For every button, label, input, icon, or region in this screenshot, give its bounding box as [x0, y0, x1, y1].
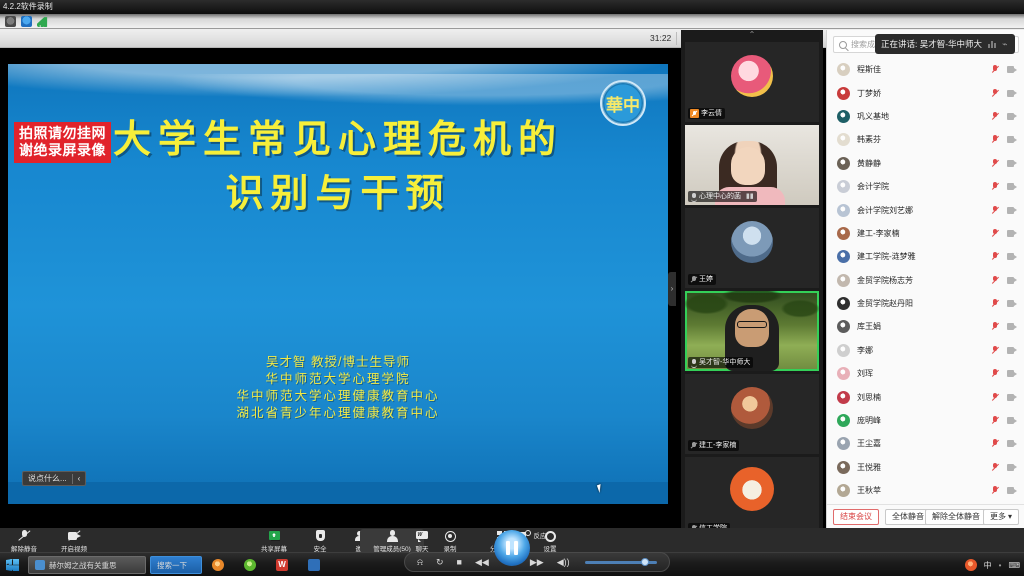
participant-status-icons	[991, 229, 1017, 238]
avatar	[837, 250, 850, 263]
media-player-controls: ⍾ ↻ ■ ◀◀ ❚❚ ▶▶ ◀))	[404, 552, 670, 572]
participant-row[interactable]: 刘珲	[827, 362, 1024, 385]
participant-name: 刘珲	[857, 368, 991, 379]
video-tile-1[interactable]: 心理中心的菡 ▮▮	[685, 125, 819, 205]
search-icon	[839, 41, 847, 49]
camera-off-icon[interactable]	[1007, 440, 1017, 447]
avatar	[837, 157, 850, 170]
participant-row[interactable]: 王尘嘉	[827, 432, 1024, 455]
avatar	[837, 367, 850, 380]
participant-name: 庞明峰	[857, 415, 991, 426]
avatar	[837, 180, 850, 193]
participant-name: 程斯佳	[857, 64, 991, 75]
mic-slash-icon[interactable]: ⍾	[417, 558, 423, 567]
unmute-all-button[interactable]: 解除全体静音	[925, 509, 987, 525]
signal-icon[interactable]	[37, 16, 48, 27]
participant-row[interactable]: 建工-李家楠	[827, 222, 1024, 245]
camera-off-icon[interactable]	[1007, 136, 1017, 143]
info-icon[interactable]	[5, 16, 16, 27]
mic-muted-icon[interactable]	[991, 182, 998, 191]
refresh-icon[interactable]: ↻	[436, 558, 444, 567]
volume-slider-knob[interactable]	[641, 558, 649, 566]
chevron-down-icon: ▾	[1008, 510, 1012, 524]
avatar	[731, 387, 773, 429]
participant-row[interactable]: 韩素芬	[827, 128, 1024, 151]
mic-muted-icon[interactable]	[991, 439, 998, 448]
camera-off-icon[interactable]	[1007, 277, 1017, 284]
participant-status-icons	[991, 252, 1017, 261]
camera-off-icon[interactable]	[1007, 347, 1017, 354]
shield-icon	[314, 530, 327, 542]
avatar	[837, 391, 850, 404]
participants-list[interactable]: 程斯佳丁梦娇巩义基地韩素芬黄静静会计学院会计学院刘艺娜建工-李家楠建工学院-涟梦…	[827, 58, 1024, 504]
app-blue-icon[interactable]	[308, 559, 320, 571]
gear-icon	[544, 530, 557, 542]
participant-name: 库王娟	[857, 321, 991, 332]
participant-name: 建工学院-涟梦雅	[857, 251, 991, 262]
avatar	[837, 320, 850, 333]
participant-row[interactable]: 建工学院-涟梦雅	[827, 245, 1024, 268]
participant-row[interactable]: 库王娟	[827, 315, 1024, 338]
speaking-now-text: 正在讲话: 吴才智-华中师大	[881, 38, 982, 50]
recorder-toolbar[interactable]	[0, 14, 1024, 29]
mic-on-icon	[690, 193, 697, 201]
video-tile-name: 王婷	[688, 274, 716, 285]
video-tile-name: 李云倩	[688, 108, 725, 119]
mic-muted-icon[interactable]	[991, 463, 998, 472]
participant-name: 王尘嘉	[857, 438, 991, 449]
participant-row[interactable]: 王秋苹	[827, 479, 1024, 502]
video-tile-4[interactable]: 建工-李家楠	[685, 374, 819, 454]
mic-muted-icon	[690, 109, 699, 118]
shield-icon[interactable]	[21, 16, 32, 27]
taskbar-window-1[interactable]: 搜索一下	[150, 556, 202, 574]
pause-overlay-button[interactable]	[494, 530, 530, 566]
participant-row[interactable]: 巩义基地	[827, 105, 1024, 128]
mic-muted-icon[interactable]	[991, 276, 998, 285]
app-icon	[35, 560, 45, 570]
avatar	[837, 274, 850, 287]
participant-name: 会计学院刘艺娜	[857, 205, 991, 216]
participant-row[interactable]: 丁梦娇	[827, 81, 1024, 104]
participant-status-icons	[991, 112, 1017, 121]
camera-off-icon[interactable]	[1007, 464, 1017, 471]
slide-subtitle: 吴才智 教授/博士生导师 华中师范大学心理学院 华中师范大学心理健康教育中心 湖…	[8, 354, 668, 422]
participant-status-icons	[991, 439, 1017, 448]
shared-screen-stage: 拍照请勿挂网 谢绝录屏录像 華中 大学生常见心理危机的 识别与干预 吴才智 教授…	[0, 48, 676, 528]
filmstrip-scroll-up-button[interactable]: ⌃	[681, 30, 823, 40]
participant-name: 王秋苹	[857, 485, 991, 496]
slide-bottom-band	[8, 482, 668, 504]
forward-icon[interactable]: ▶▶	[530, 558, 544, 567]
screen-root: 4.2.2软件录制 31:22 0人看直播 演讲者视图 ▾ 管理成员(50)	[0, 0, 1024, 576]
mic-muted-icon[interactable]	[991, 369, 998, 378]
mic-muted-icon[interactable]	[991, 159, 998, 168]
participant-status-icons	[991, 369, 1017, 378]
volume-slider[interactable]	[585, 561, 657, 564]
system-tray: 中 • ⌨	[965, 553, 1020, 576]
mic-muted-icon[interactable]	[991, 206, 998, 215]
volume-icon[interactable]: ◀))	[557, 558, 570, 567]
participant-name: 黄静静	[857, 158, 991, 169]
share-screen-icon	[268, 530, 281, 542]
participant-status-icons	[991, 346, 1017, 355]
slide-title: 大学生常见心理危机的 识别与干预	[8, 112, 668, 220]
participant-name: 韩素芬	[857, 134, 991, 145]
camera-off-icon[interactable]	[1007, 207, 1017, 214]
sogou-input-icon[interactable]	[965, 559, 977, 571]
camera-off-icon[interactable]	[1007, 160, 1017, 167]
mic-muted-icon[interactable]	[991, 346, 998, 355]
signal-icon: ▮▮	[746, 191, 754, 202]
participant-status-icons	[991, 276, 1017, 285]
security-button[interactable]: 安全	[298, 529, 342, 553]
record-button[interactable]: 录制	[428, 529, 472, 553]
avatar	[837, 204, 850, 217]
annotation-placeholder: 说点什么...	[28, 472, 67, 485]
camera-off-icon[interactable]	[1007, 370, 1017, 377]
avatar	[837, 461, 850, 474]
participant-status-icons	[991, 206, 1017, 215]
participant-name: 金贸学院赵丹阳	[857, 298, 991, 309]
settings-button[interactable]: 设置	[528, 529, 572, 553]
participant-status-icons	[991, 299, 1017, 308]
mic-muted-icon	[690, 276, 697, 284]
camera-off-icon[interactable]	[1007, 183, 1017, 190]
camera-off-icon[interactable]	[1007, 394, 1017, 401]
avatar	[837, 484, 850, 497]
people-icon	[386, 530, 399, 542]
keyboard-icon[interactable]: ⌨	[1008, 561, 1020, 570]
end-meeting-button[interactable]: 结束会议	[833, 509, 879, 525]
meeting-timer: 31:22	[646, 29, 675, 48]
avatar	[837, 133, 850, 146]
rewind-icon[interactable]: ◀◀	[475, 558, 489, 567]
unmute-button[interactable]: 解除静音	[2, 529, 46, 553]
stop-icon[interactable]: ■	[457, 558, 462, 567]
avatar	[837, 227, 850, 240]
video-tile-name: 建工-李家楠	[688, 440, 739, 451]
video-tile-name: 吴才智-华中师大	[688, 357, 753, 368]
app-green-icon[interactable]	[244, 559, 256, 571]
record-icon	[444, 530, 457, 542]
participant-row[interactable]: 会计学院刘艺娜	[827, 198, 1024, 221]
ime-mode-label[interactable]: 中	[984, 560, 992, 571]
mic-muted-icon[interactable]	[991, 135, 998, 144]
mic-muted-icon[interactable]	[991, 299, 998, 308]
participant-row[interactable]: 黄静静	[827, 152, 1024, 175]
start-button[interactable]	[2, 555, 24, 575]
avatar	[837, 344, 850, 357]
recorder-title-bar: 4.2.2软件录制	[0, 0, 1024, 14]
recorder-title-text: 4.2.2软件录制	[3, 2, 53, 11]
participant-status-icons	[991, 486, 1017, 495]
camera-off-icon[interactable]	[1007, 253, 1017, 260]
participant-status-icons	[991, 393, 1017, 402]
participants-footer: 结束会议 全体静音 解除全体静音 更多 ▾	[827, 504, 1024, 528]
avatar	[837, 63, 850, 76]
camera-off-icon[interactable]	[1007, 323, 1017, 330]
participant-name: 王悦雅	[857, 462, 991, 473]
camera-off-icon[interactable]	[1007, 487, 1017, 494]
stage-collapse-handle[interactable]: ›	[668, 272, 676, 306]
video-tile-name: 心理中心的菡 ▮▮	[688, 191, 757, 202]
avatar	[837, 414, 850, 427]
participant-row[interactable]: 王悦雅	[827, 456, 1024, 479]
mic-muted-icon	[690, 442, 697, 450]
camera-off-icon[interactable]	[1007, 113, 1017, 120]
participant-status-icons	[991, 463, 1017, 472]
avatar	[731, 55, 773, 97]
participant-status-icons	[991, 159, 1017, 168]
mic-muted-icon	[18, 530, 31, 542]
participant-status-icons	[991, 416, 1017, 425]
camera-off-icon[interactable]	[1007, 90, 1017, 97]
mic-muted-icon[interactable]	[991, 229, 998, 238]
avatar	[837, 110, 850, 123]
participants-panel: 搜索成员 正在讲话: 吴才智-华中师大 ⌁ 程斯佳丁梦娇巩义基地韩素芬黄静静会计…	[826, 30, 1024, 528]
start-video-button[interactable]: 开启视频	[52, 529, 96, 553]
participant-status-icons	[991, 182, 1017, 191]
participant-row[interactable]: 金贸学院杨志芳	[827, 269, 1024, 292]
annotation-input-bar[interactable]: 说点什么... ‹	[22, 471, 86, 486]
more-options-button[interactable]: 更多 ▾	[983, 509, 1019, 525]
participant-name: 刘思楠	[857, 392, 991, 403]
camera-off-icon[interactable]	[1007, 300, 1017, 307]
video-tile-2[interactable]: 王婷	[685, 208, 819, 288]
participant-row[interactable]: 刘思楠	[827, 385, 1024, 408]
avatar	[837, 437, 850, 450]
avatar	[837, 87, 850, 100]
participant-name: 巩义基地	[857, 111, 991, 122]
mic-muted-icon[interactable]	[991, 252, 998, 261]
participant-row[interactable]: 会计学院	[827, 175, 1024, 198]
video-filmstrip: ⌃ 李云倩 心理中心的菡 ▮▮ 王婷	[681, 30, 823, 528]
participant-status-icons	[991, 135, 1017, 144]
participant-name: 金贸学院杨志芳	[857, 275, 991, 286]
video-tile-0[interactable]: 李云倩	[685, 42, 819, 122]
wps-icon[interactable]: W	[276, 559, 288, 571]
taskbar-window-0[interactable]: 赫尔姆之战有关重思	[28, 556, 146, 574]
chat-bubble-icon: W	[416, 530, 429, 542]
participant-name: 会计学院	[857, 181, 991, 192]
mic-muted-icon[interactable]	[991, 112, 998, 121]
participant-status-icons	[991, 89, 1017, 98]
participant-row[interactable]: 李娜	[827, 339, 1024, 362]
camera-off-icon	[68, 530, 81, 542]
avatar	[730, 467, 774, 511]
participant-status-icons	[991, 65, 1017, 74]
mic-muted-icon[interactable]	[991, 322, 998, 331]
audio-level-icon	[988, 40, 996, 48]
participant-name: 丁梦娇	[857, 88, 991, 99]
speaking-now-toast: 正在讲话: 吴才智-华中师大 ⌁	[875, 34, 1015, 54]
share-screen-button[interactable]: 共享屏幕	[252, 529, 296, 553]
participant-status-icons	[991, 322, 1017, 331]
camera-off-icon[interactable]	[1007, 417, 1017, 424]
avatar	[837, 297, 850, 310]
camera-off-icon[interactable]	[1007, 230, 1017, 237]
ime-dot-icon: •	[999, 561, 1002, 570]
mic-indicator-icon: ⌁	[1002, 39, 1007, 50]
mic-muted-icon[interactable]	[991, 393, 998, 402]
participant-name: 李娜	[857, 345, 991, 356]
annotation-collapse-icon[interactable]: ‹	[78, 472, 81, 485]
mic-muted-icon[interactable]	[991, 486, 998, 495]
camera-off-icon[interactable]	[1007, 66, 1017, 73]
participant-row[interactable]: 金贸学院赵丹阳	[827, 292, 1024, 315]
participant-row[interactable]: 庞明峰	[827, 409, 1024, 432]
mic-muted-icon[interactable]	[991, 416, 998, 425]
video-tile-3[interactable]: 吴才智-华中师大	[685, 291, 819, 371]
app-orange-icon[interactable]	[212, 559, 224, 571]
avatar	[731, 221, 773, 263]
video-tile-5[interactable]: 信工学院 ⌄	[685, 457, 819, 537]
mic-on-icon	[690, 359, 697, 367]
mic-muted-icon[interactable]	[991, 89, 998, 98]
participant-name: 建工-李家楠	[857, 228, 991, 239]
presentation-slide: 拍照请勿挂网 谢绝录屏录像 華中 大学生常见心理危机的 识别与干预 吴才智 教授…	[8, 64, 668, 504]
mic-muted-icon[interactable]	[991, 65, 998, 74]
participant-row[interactable]: 程斯佳	[827, 58, 1024, 81]
